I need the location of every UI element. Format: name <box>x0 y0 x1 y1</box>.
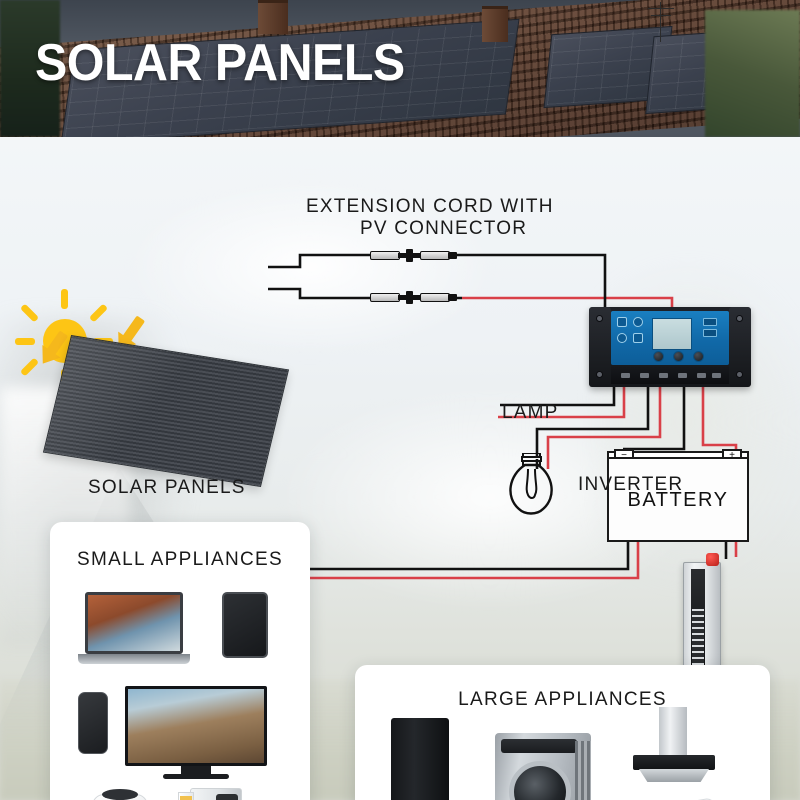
small-appliances-title: SMALL APPLIANCES <box>50 549 310 571</box>
washing-machine-image <box>495 733 591 800</box>
panel-icon <box>617 317 627 327</box>
terminal <box>621 373 630 378</box>
controller-mount-left <box>589 307 611 387</box>
terminal <box>640 373 649 378</box>
large-appliances-card: LARGE APPLIANCES <box>355 665 770 800</box>
laptop-image <box>85 592 197 664</box>
settings-icon <box>617 333 627 343</box>
header-banner: SOLAR PANELS <box>0 0 800 137</box>
terminal <box>697 373 706 378</box>
refrigerator-image <box>391 718 449 800</box>
pv-connector-upper <box>370 249 462 262</box>
solar-charge-controller[interactable] <box>589 307 751 387</box>
usb-port-lower[interactable] <box>703 329 717 337</box>
small-appliances-card: SMALL APPLIANCES <box>50 522 310 800</box>
infographic-root: SOLAR PANELS <box>0 0 800 800</box>
battery-icon <box>633 317 643 327</box>
cooler-box-image <box>92 794 150 800</box>
terminal <box>712 373 721 378</box>
controller-mount-right <box>729 307 751 387</box>
power-inverter <box>683 562 721 676</box>
usb-port-upper[interactable] <box>703 318 717 326</box>
diagram-area: SOLAR PANELS EXTENSION CORD WITH PV CONN… <box>0 137 800 800</box>
controller-faceplate <box>611 311 729 365</box>
controller-button-menu[interactable] <box>653 351 664 362</box>
mini-fridge-image <box>190 788 244 800</box>
chimney-left <box>258 0 288 34</box>
controller-button-down[interactable] <box>673 351 684 362</box>
terminal <box>678 373 687 378</box>
lamp-label: LAMP <box>502 402 559 424</box>
television-image <box>125 686 273 780</box>
controller-lcd-display <box>652 318 692 350</box>
tv-antenna <box>660 2 661 42</box>
range-hood-image <box>633 707 715 785</box>
pv-connector-lower <box>370 291 462 304</box>
tablet-image <box>222 592 268 658</box>
controller-terminal-block <box>611 367 729 384</box>
inverter-vents <box>692 609 704 665</box>
page-title: SOLAR PANELS <box>35 33 405 93</box>
smartphone-image <box>78 692 108 754</box>
chimney-right <box>482 6 508 42</box>
controller-button-up[interactable] <box>693 351 704 362</box>
lock-icon <box>633 333 643 343</box>
terminal <box>659 373 668 378</box>
trees-right <box>705 10 800 137</box>
lamp-bulb-icon <box>497 453 565 529</box>
inverter-terminal-knob <box>706 553 719 566</box>
inverter-label: INVERTER <box>578 474 683 496</box>
